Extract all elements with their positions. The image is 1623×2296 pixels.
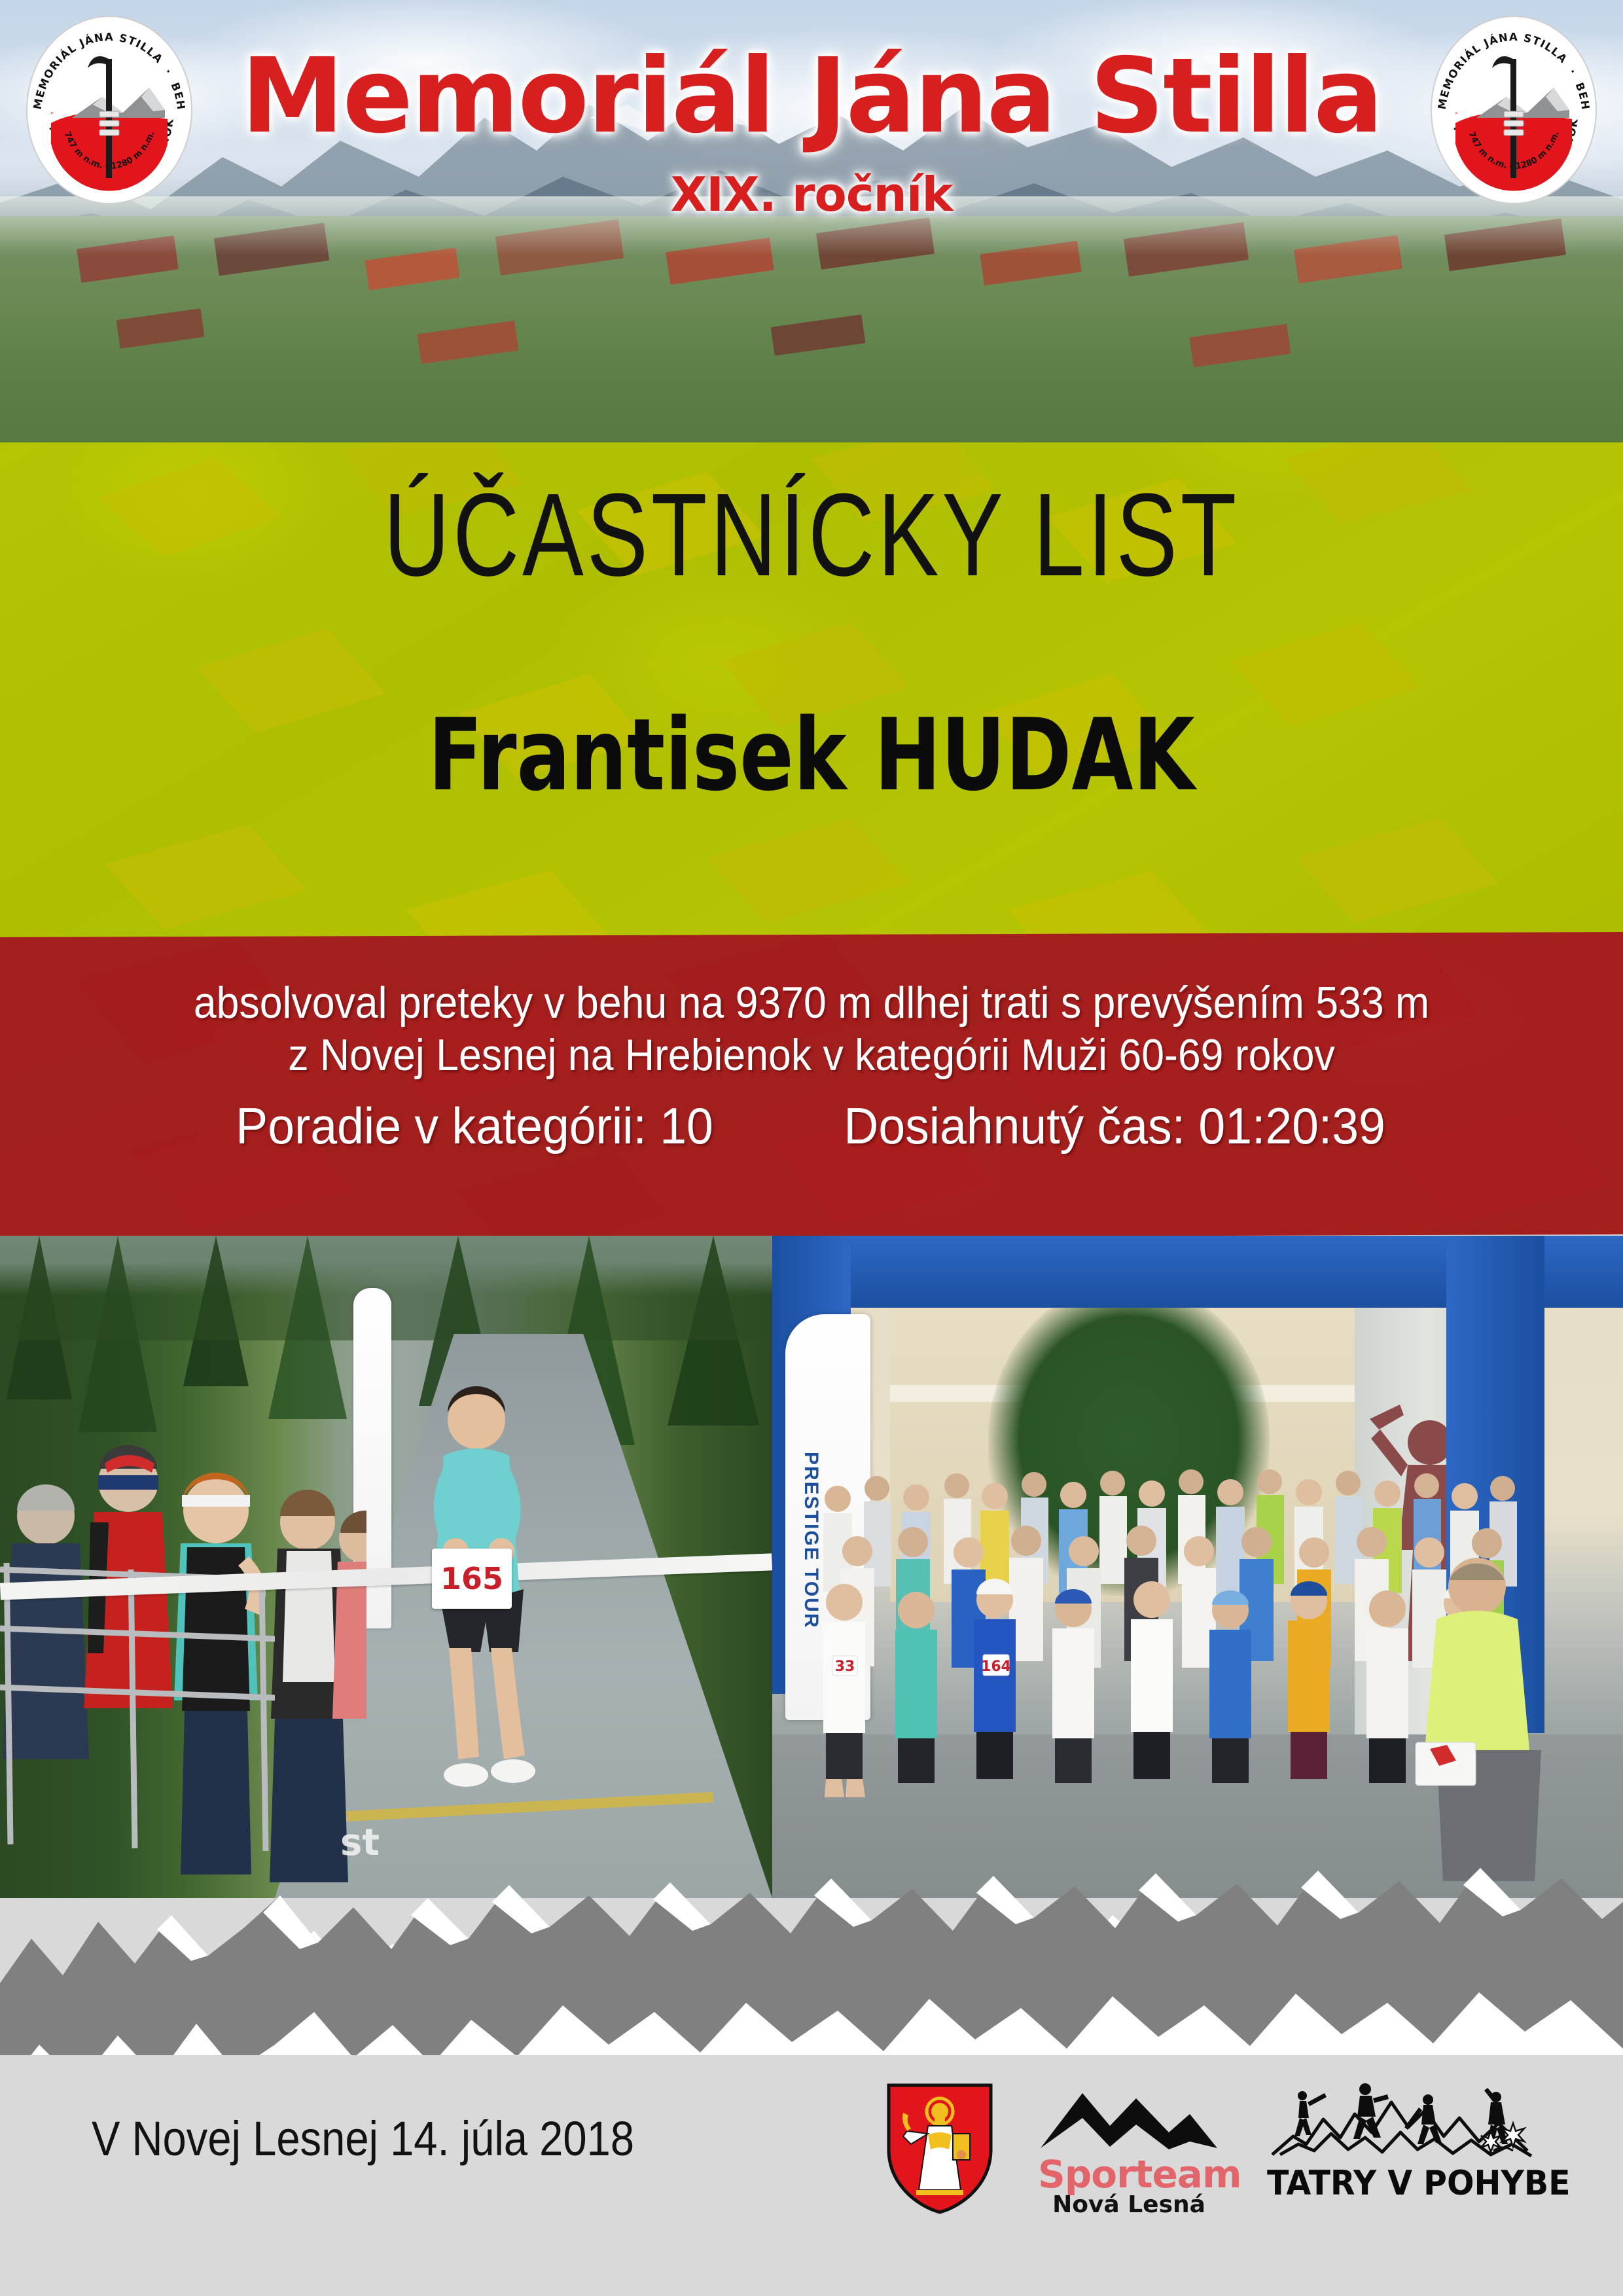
time-value: 01:20:39 (1198, 1097, 1385, 1155)
description-line-1: absolvoval preteky v behu na 9370 m dlhe… (65, 980, 1558, 1026)
description-line-2: z Novej Lesnej na Hrebienok v kategórii … (65, 1033, 1558, 1078)
rank-result: Poradie v kategórii: 10 (236, 1096, 713, 1156)
tatry-mountain-sports-icon (1263, 2081, 1538, 2164)
tatry-v-pohybe-wordmark: TATRY V POHYBE (1267, 2164, 1570, 2203)
sporteam-sublabel: Nová Lesná (1038, 2191, 1220, 2218)
certificate-poster: Memoriál Jána Stilla XIX. ročník MEMORIÁ… (0, 0, 1623, 2296)
event-logo-left: MEMORIÁL JÁNA STILLA · BEH DO VRCHU · NO… (25, 14, 194, 206)
svg-text:33: 33 (835, 1659, 855, 1675)
document-type-title: ÚČASTNÍCKY LIST (179, 476, 1444, 594)
time-result: Dosiahnutý čas: 01:20:39 (844, 1096, 1385, 1156)
header-mountain-photo: Memoriál Jána Stilla XIX. ročník MEMORIÁ… (0, 0, 1623, 458)
issue-date: V Novej Lesnej 14. júla 2018 (92, 2111, 634, 2166)
results-row: Poradie v kategórii: 10 Dosiahnutý čas: … (0, 1096, 1623, 1156)
tatry-v-pohybe-logo: TATRY V POHYBE (1263, 2081, 1538, 2212)
nova-lesna-coat-of-arms-icon (885, 2081, 995, 2216)
edition-subtitle: XIX. ročník (0, 167, 1623, 222)
sporteam-mountain-icon (1038, 2081, 1220, 2153)
runner-bib: 165 (432, 1549, 512, 1609)
page-title: Memoriál Jána Stilla (0, 45, 1623, 148)
rank-value: 10 (660, 1097, 713, 1155)
sporteam-logo: Sporteam Nová Lesná (1038, 2081, 1220, 2212)
sponsor-logos: Sporteam Nová Lesná (885, 2081, 1538, 2216)
athlete-name: Frantisek HUDAK (162, 706, 1461, 805)
sporteam-wordmark: Sporteam (1038, 2152, 1220, 2197)
event-logo-right: MEMORIÁL JÁNA STILLA · BEH DO VRCHU · NO… (1429, 14, 1598, 206)
svg-text:164: 164 (981, 1659, 1011, 1675)
time-label: Dosiahnutý čas: (844, 1097, 1185, 1155)
rank-label: Poradie v kategórii: (236, 1097, 647, 1155)
